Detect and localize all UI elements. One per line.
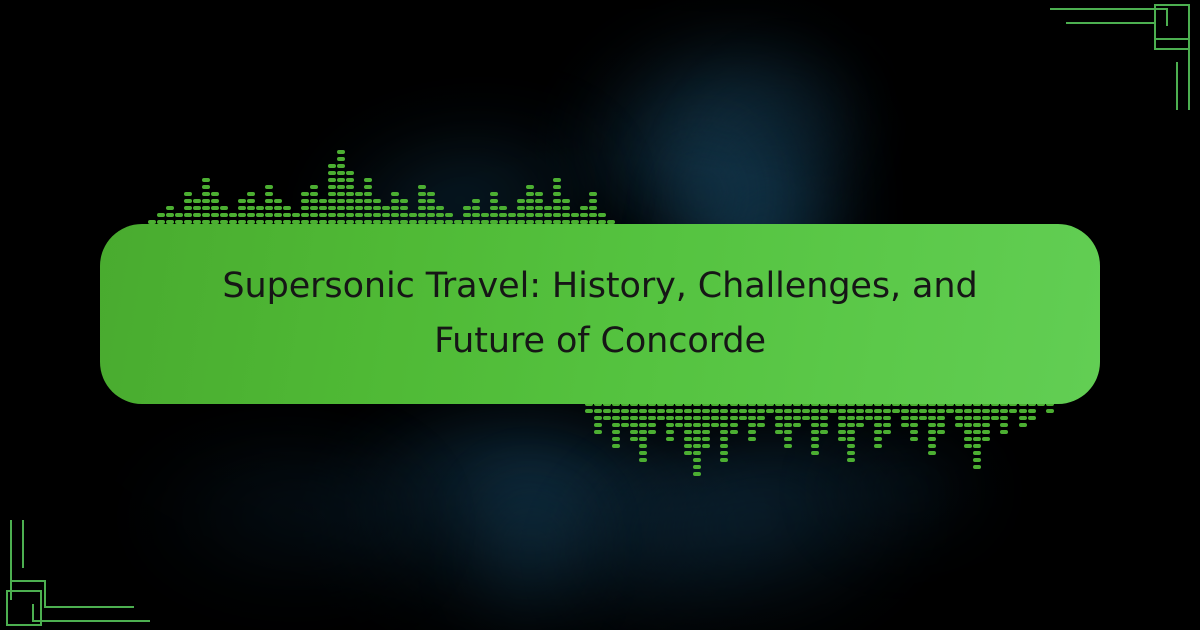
waveform-dot <box>964 444 972 448</box>
waveform-dot <box>346 199 354 203</box>
waveform-dot <box>693 437 701 441</box>
waveform-dot <box>639 409 647 413</box>
waveform-column <box>409 213 417 224</box>
waveform-dot <box>964 416 972 420</box>
waveform-dot <box>265 206 273 210</box>
waveform-dot <box>630 430 638 434</box>
waveform-column <box>247 192 255 224</box>
waveform-dot <box>973 430 981 434</box>
waveform-dot <box>274 206 282 210</box>
waveform-dot <box>802 409 810 413</box>
waveform-dot <box>517 213 525 217</box>
waveform-dot <box>684 444 692 448</box>
waveform-column <box>571 213 579 224</box>
waveform-dot <box>847 409 855 413</box>
waveform-column <box>720 402 728 462</box>
waveform-dot <box>720 430 728 434</box>
waveform-dot <box>621 409 629 413</box>
waveform-dot <box>693 416 701 420</box>
waveform-dot <box>910 437 918 441</box>
waveform-dot <box>775 423 783 427</box>
bottom-waveform <box>585 402 1054 476</box>
waveform-dot <box>973 458 981 462</box>
page-title: Supersonic Travel: History, Challenges, … <box>220 259 980 370</box>
circuit-corner-bottom-left <box>0 520 160 630</box>
waveform-dot <box>991 409 999 413</box>
waveform-dot <box>675 409 683 413</box>
waveform-dot <box>418 192 426 196</box>
waveform-dot <box>499 213 507 217</box>
waveform-dot <box>526 185 534 189</box>
waveform-dot <box>202 213 210 217</box>
waveform-column <box>364 178 372 224</box>
waveform-dot <box>553 213 561 217</box>
waveform-dot <box>684 430 692 434</box>
waveform-dot <box>820 423 828 427</box>
waveform-dot <box>612 444 620 448</box>
waveform-dot <box>229 213 237 217</box>
waveform-dot <box>391 199 399 203</box>
waveform-dot <box>238 199 246 203</box>
waveform-dot <box>553 192 561 196</box>
waveform-dot <box>166 213 174 217</box>
waveform-column <box>553 178 561 224</box>
waveform-dot <box>838 409 846 413</box>
waveform-dot <box>364 192 372 196</box>
waveform-dot <box>346 185 354 189</box>
waveform-column <box>874 402 882 448</box>
waveform-dot <box>589 213 597 217</box>
waveform-dot <box>693 409 701 413</box>
waveform-column <box>1000 402 1008 434</box>
waveform-dot <box>1000 430 1008 434</box>
waveform-dot <box>292 213 300 217</box>
waveform-dot <box>964 409 972 413</box>
waveform-dot <box>211 199 219 203</box>
waveform-dot <box>594 430 602 434</box>
corner-square <box>6 590 42 626</box>
waveform-dot <box>820 409 828 413</box>
waveform-dot <box>928 430 936 434</box>
waveform-dot <box>256 213 264 217</box>
waveform-column <box>256 206 264 224</box>
waveform-dot <box>202 206 210 210</box>
waveform-dot <box>310 213 318 217</box>
waveform-column <box>463 206 471 224</box>
waveform-dot <box>355 206 363 210</box>
waveform-dot <box>211 213 219 217</box>
waveform-dot <box>720 458 728 462</box>
waveform-dot <box>220 213 228 217</box>
poster-canvas: Supersonic Travel: History, Challenges, … <box>0 0 1200 630</box>
waveform-dot <box>1019 409 1027 413</box>
waveform-column <box>355 192 363 224</box>
waveform-dot <box>865 416 873 420</box>
waveform-column <box>400 199 408 224</box>
waveform-dot <box>684 423 692 427</box>
waveform-dot <box>684 409 692 413</box>
waveform-dot <box>919 409 927 413</box>
waveform-column <box>211 192 219 224</box>
waveform-dot <box>865 409 873 413</box>
waveform-column <box>847 402 855 462</box>
waveform-dot <box>301 192 309 196</box>
corner-line <box>1176 62 1178 110</box>
waveform-dot <box>1028 416 1036 420</box>
waveform-dot <box>193 199 201 203</box>
waveform-dot <box>973 451 981 455</box>
waveform-dot <box>603 409 611 413</box>
waveform-column <box>391 192 399 224</box>
waveform-dot <box>910 416 918 420</box>
waveform-dot <box>838 416 846 420</box>
waveform-dot <box>730 409 738 413</box>
waveform-dot <box>874 409 882 413</box>
waveform-dot <box>328 185 336 189</box>
waveform-column <box>418 185 426 224</box>
waveform-dot <box>639 423 647 427</box>
waveform-dot <box>346 178 354 182</box>
waveform-dot <box>193 206 201 210</box>
waveform-dot <box>621 416 629 420</box>
waveform-dot <box>319 213 327 217</box>
corner-line <box>1154 48 1190 50</box>
waveform-dot <box>937 430 945 434</box>
waveform-dot <box>928 409 936 413</box>
waveform-dot <box>319 206 327 210</box>
waveform-dot <box>757 423 765 427</box>
waveform-column <box>693 402 701 476</box>
waveform-dot <box>328 178 336 182</box>
waveform-dot <box>856 423 864 427</box>
waveform-column <box>865 402 873 420</box>
waveform-dot <box>265 213 273 217</box>
waveform-dot <box>328 171 336 175</box>
waveform-dot <box>580 206 588 210</box>
waveform-dot <box>364 185 372 189</box>
waveform-column <box>793 402 801 427</box>
waveform-dot <box>202 185 210 189</box>
corner-square <box>1154 4 1190 40</box>
corner-line <box>22 520 24 568</box>
waveform-dot <box>973 444 981 448</box>
waveform-dot <box>775 430 783 434</box>
waveform-dot <box>175 213 183 217</box>
waveform-dot <box>639 451 647 455</box>
waveform-dot <box>775 416 783 420</box>
waveform-column <box>427 192 435 224</box>
waveform-dot <box>310 185 318 189</box>
waveform-dot <box>612 430 620 434</box>
waveform-dot <box>666 423 674 427</box>
waveform-dot <box>874 437 882 441</box>
waveform-dot <box>793 409 801 413</box>
waveform-column <box>220 206 228 224</box>
waveform-dot <box>472 213 480 217</box>
waveform-column <box>639 402 647 462</box>
waveform-dot <box>598 213 606 217</box>
waveform-dot <box>928 451 936 455</box>
waveform-dot <box>847 444 855 448</box>
waveform-dot <box>811 416 819 420</box>
waveform-dot <box>346 213 354 217</box>
waveform-dot <box>748 423 756 427</box>
waveform-dot <box>829 409 837 413</box>
waveform-dot <box>517 199 525 203</box>
waveform-dot <box>400 199 408 203</box>
waveform-column <box>193 199 201 224</box>
waveform-dot <box>382 213 390 217</box>
corner-line <box>32 620 150 622</box>
waveform-dot <box>874 444 882 448</box>
waveform-dot <box>648 409 656 413</box>
waveform-column <box>594 402 602 434</box>
waveform-dot <box>630 437 638 441</box>
waveform-dot <box>982 416 990 420</box>
waveform-dot <box>639 437 647 441</box>
waveform-dot <box>373 199 381 203</box>
waveform-column <box>508 213 516 224</box>
corner-line <box>10 580 46 582</box>
waveform-dot <box>639 430 647 434</box>
waveform-dot <box>693 458 701 462</box>
waveform-dot <box>373 206 381 210</box>
waveform-dot <box>211 206 219 210</box>
waveform-column <box>937 402 945 434</box>
corner-line <box>44 606 134 608</box>
waveform-column <box>919 402 927 420</box>
waveform-column <box>910 402 918 441</box>
waveform-dot <box>748 437 756 441</box>
waveform-dot <box>211 192 219 196</box>
waveform-dot <box>937 416 945 420</box>
waveform-dot <box>589 192 597 196</box>
waveform-dot <box>757 416 765 420</box>
waveform-dot <box>693 444 701 448</box>
waveform-dot <box>612 416 620 420</box>
waveform-dot <box>526 206 534 210</box>
waveform-dot <box>621 423 629 427</box>
waveform-dot <box>364 199 372 203</box>
waveform-dot <box>526 213 534 217</box>
waveform-dot <box>400 213 408 217</box>
waveform-dot <box>720 451 728 455</box>
waveform-dot <box>757 409 765 413</box>
waveform-dot <box>973 409 981 413</box>
waveform-column <box>274 199 282 224</box>
waveform-dot <box>337 178 345 182</box>
waveform-dot <box>247 192 255 196</box>
waveform-dot <box>283 206 291 210</box>
smoke-wisp <box>120 440 420 610</box>
waveform-dot <box>220 206 228 210</box>
waveform-dot <box>355 192 363 196</box>
waveform-dot <box>811 430 819 434</box>
waveform-dot <box>811 451 819 455</box>
waveform-column <box>472 199 480 224</box>
waveform-dot <box>1019 423 1027 427</box>
waveform-dot <box>856 416 864 420</box>
waveform-dot <box>630 409 638 413</box>
waveform-dot <box>1000 409 1008 413</box>
waveform-column <box>184 192 192 224</box>
waveform-dot <box>702 423 710 427</box>
waveform-dot <box>535 192 543 196</box>
waveform-dot <box>784 416 792 420</box>
waveform-dot <box>247 199 255 203</box>
waveform-column <box>928 402 936 455</box>
waveform-dot <box>463 206 471 210</box>
waveform-dot <box>730 430 738 434</box>
waveform-dot <box>535 213 543 217</box>
waveform-column <box>748 402 756 441</box>
waveform-dot <box>202 178 210 182</box>
waveform-dot <box>391 213 399 217</box>
waveform-dot <box>355 213 363 217</box>
waveform-dot <box>508 213 516 217</box>
waveform-dot <box>328 213 336 217</box>
waveform-column <box>490 192 498 224</box>
waveform-dot <box>337 199 345 203</box>
waveform-column <box>157 213 165 224</box>
waveform-dot <box>630 423 638 427</box>
waveform-column <box>856 402 864 427</box>
waveform-column <box>499 206 507 224</box>
waveform-dot <box>310 192 318 196</box>
waveform-dot <box>910 409 918 413</box>
waveform-column <box>1028 402 1036 420</box>
waveform-dot <box>544 206 552 210</box>
waveform-dot <box>265 192 273 196</box>
waveform-dot <box>571 213 579 217</box>
waveform-dot <box>693 451 701 455</box>
waveform-column <box>382 206 390 224</box>
waveform-column <box>202 178 210 224</box>
waveform-dot <box>748 430 756 434</box>
waveform-dot <box>184 206 192 210</box>
waveform-dot <box>720 437 728 441</box>
waveform-column <box>526 185 534 224</box>
waveform-dot <box>748 416 756 420</box>
waveform-dot <box>1046 409 1054 413</box>
waveform-dot <box>964 437 972 441</box>
waveform-dot <box>1000 416 1008 420</box>
waveform-dot <box>594 416 602 420</box>
waveform-dot <box>847 423 855 427</box>
waveform-dot <box>693 430 701 434</box>
waveform-dot <box>937 409 945 413</box>
waveform-dot <box>766 409 774 413</box>
waveform-column <box>328 164 336 224</box>
waveform-dot <box>612 409 620 413</box>
waveform-dot <box>247 206 255 210</box>
waveform-dot <box>184 199 192 203</box>
waveform-column <box>238 199 246 224</box>
waveform-dot <box>427 199 435 203</box>
waveform-dot <box>666 416 674 420</box>
waveform-dot <box>910 423 918 427</box>
waveform-column <box>982 402 990 441</box>
waveform-dot <box>964 423 972 427</box>
waveform-dot <box>901 416 909 420</box>
waveform-dot <box>657 416 665 420</box>
waveform-dot <box>784 430 792 434</box>
waveform-dot <box>418 185 426 189</box>
waveform-dot <box>580 213 588 217</box>
waveform-dot <box>684 437 692 441</box>
waveform-dot <box>883 416 891 420</box>
waveform-column <box>445 213 453 224</box>
waveform-dot <box>910 430 918 434</box>
waveform-dot <box>346 206 354 210</box>
corner-line <box>44 580 46 608</box>
waveform-dot <box>730 416 738 420</box>
waveform-dot <box>811 423 819 427</box>
waveform-dot <box>775 409 783 413</box>
waveform-column <box>175 213 183 224</box>
waveform-dot <box>901 423 909 427</box>
waveform-column <box>630 402 638 441</box>
waveform-dot <box>418 206 426 210</box>
waveform-dot <box>553 199 561 203</box>
waveform-dot <box>238 206 246 210</box>
waveform-dot <box>811 444 819 448</box>
waveform-dot <box>901 409 909 413</box>
waveform-dot <box>982 437 990 441</box>
corner-line <box>1188 30 1190 110</box>
waveform-dot <box>838 430 846 434</box>
waveform-dot <box>675 423 683 427</box>
waveform-dot <box>973 423 981 427</box>
waveform-dot <box>328 206 336 210</box>
title-card: Supersonic Travel: History, Challenges, … <box>100 224 1100 404</box>
waveform-dot <box>702 409 710 413</box>
waveform-dot <box>427 192 435 196</box>
waveform-dot <box>346 192 354 196</box>
waveform-dot <box>847 458 855 462</box>
circuit-corner-top-right <box>1040 0 1200 110</box>
waveform-column <box>436 206 444 224</box>
waveform-dot <box>594 423 602 427</box>
waveform-dot <box>928 437 936 441</box>
waveform-column <box>265 185 273 224</box>
waveform-dot <box>784 423 792 427</box>
waveform-dot <box>639 416 647 420</box>
waveform-dot <box>648 423 656 427</box>
waveform-dot <box>928 423 936 427</box>
waveform-dot <box>693 472 701 476</box>
waveform-column <box>346 171 354 224</box>
waveform-dot <box>490 213 498 217</box>
waveform-dot <box>589 199 597 203</box>
waveform-dot <box>1009 409 1017 413</box>
waveform-dot <box>535 206 543 210</box>
waveform-dot <box>283 213 291 217</box>
waveform-dot <box>666 430 674 434</box>
waveform-dot <box>526 199 534 203</box>
waveform-column <box>666 402 674 441</box>
waveform-column <box>598 213 606 224</box>
waveform-dot <box>364 178 372 182</box>
waveform-column <box>883 402 891 434</box>
waveform-dot <box>346 171 354 175</box>
waveform-dot <box>490 199 498 203</box>
waveform-dot <box>838 437 846 441</box>
waveform-dot <box>328 192 336 196</box>
waveform-dot <box>720 416 728 420</box>
waveform-dot <box>337 206 345 210</box>
waveform-dot <box>274 199 282 203</box>
